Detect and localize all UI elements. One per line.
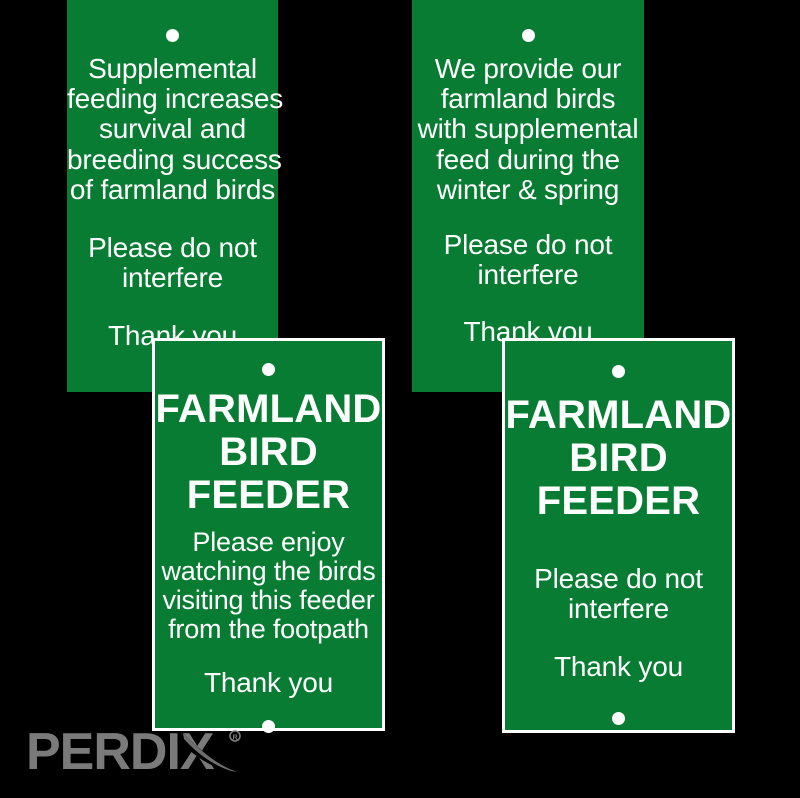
sign-1-please-line: Please do not <box>67 233 278 263</box>
perdix-logo: PERDIX R <box>26 727 266 779</box>
mounting-hole-icon <box>522 29 535 42</box>
sign-4-title-line: FARMLAND <box>505 394 732 437</box>
sign-3-body-line: visiting this feeder <box>155 586 382 615</box>
sign-3-title-line: FEEDER <box>155 474 382 517</box>
sign-4-please-line: interfere <box>505 594 732 624</box>
sign-2-please-line: interfere <box>412 260 644 290</box>
sign-1-main-line: Supplemental <box>67 54 278 84</box>
image-canvas: Supplemental feeding increases survival … <box>0 0 800 798</box>
perdix-wordmark-text: PERDIX <box>26 727 215 779</box>
sign-4-thanks-line: Thank you <box>505 652 732 682</box>
mounting-hole-icon <box>166 29 179 42</box>
sign-2-please-line: Please do not <box>412 230 644 260</box>
sign-3-body-text: Please enjoy watching the birds visiting… <box>155 528 382 645</box>
sign-1-main-line: of farmland birds <box>67 175 278 205</box>
registered-trademark-letter: R <box>232 735 237 742</box>
perdix-logo-mark: PERDIX R <box>26 727 266 779</box>
sign-2-main-line: feed during the <box>412 145 644 175</box>
sign-2-main-line: winter & spring <box>412 175 644 205</box>
sign-3-title-text: FARMLAND BIRD FEEDER <box>155 388 382 518</box>
sign-3-body-line: watching the birds <box>155 557 382 586</box>
sign-4-thanks-text: Thank you <box>505 652 732 682</box>
mounting-hole-icon <box>612 712 625 725</box>
supplemental-feeding-sign: Supplemental feeding increases survival … <box>67 0 278 392</box>
sign-1-main-line: breeding success <box>67 145 278 175</box>
sign-4-please-line: Please do not <box>505 564 732 594</box>
sign-3-thanks-line: Thank you <box>155 668 382 698</box>
sign-4-please-text: Please do not interfere <box>505 564 732 624</box>
farmland-bird-feeder-do-not-interfere-sign: FARMLAND BIRD FEEDER Please do not inter… <box>502 338 735 733</box>
mounting-hole-icon <box>262 363 275 376</box>
sign-1-main-line: survival and <box>67 114 278 144</box>
sign-2-please-text: Please do not interfere <box>412 230 644 290</box>
sign-4-title-text: FARMLAND BIRD FEEDER <box>505 394 732 524</box>
mounting-hole-icon <box>612 365 625 378</box>
sign-3-title-line: BIRD <box>155 431 382 474</box>
sign-2-main-text: We provide our farmland birds with suppl… <box>412 54 644 205</box>
sign-3-body-line: Please enjoy <box>155 528 382 557</box>
sign-1-please-line: interfere <box>67 263 278 293</box>
sign-4-title-line: FEEDER <box>505 480 732 523</box>
sign-2-main-line: with supplemental <box>412 114 644 144</box>
sign-2-main-line: We provide our <box>412 54 644 84</box>
sign-4-title-line: BIRD <box>505 437 732 480</box>
sign-1-main-text: Supplemental feeding increases survival … <box>67 54 278 205</box>
sign-1-main-line: feeding increases <box>67 84 278 114</box>
sign-1-please-text: Please do not interfere <box>67 233 278 293</box>
farmland-bird-feeder-enjoy-sign: FARMLAND BIRD FEEDER Please enjoy watchi… <box>152 338 385 731</box>
sign-3-body-line: from the footpath <box>155 615 382 644</box>
sign-3-title-line: FARMLAND <box>155 388 382 431</box>
sign-3-thanks-text: Thank you <box>155 668 382 698</box>
we-provide-sign: We provide our farmland birds with suppl… <box>412 0 644 392</box>
sign-2-main-line: farmland birds <box>412 84 644 114</box>
